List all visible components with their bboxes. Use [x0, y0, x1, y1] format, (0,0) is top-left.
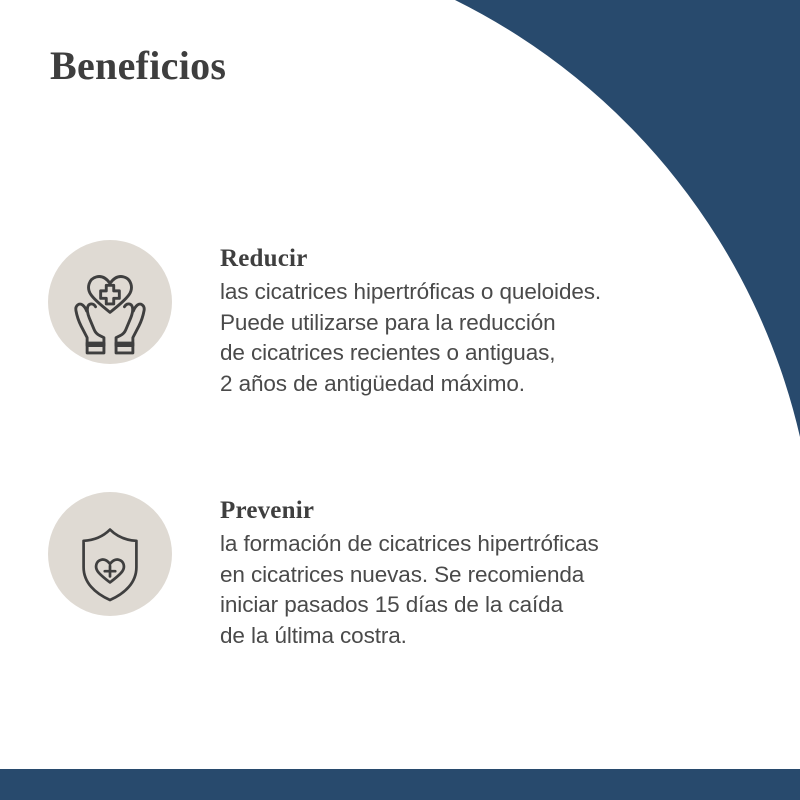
benefit-heading: Prevenir	[220, 496, 599, 526]
hands-holding-heart-with-medical-cross-icon	[54, 254, 166, 366]
benefit-text-block: Prevenir la formación de cicatrices hipe…	[220, 492, 599, 651]
shield-with-heart-and-plus-icon	[62, 516, 158, 612]
benefit-text-block: Reducir las cicatrices hipertróficas o q…	[220, 240, 601, 399]
benefit-item: Prevenir la formación de cicatrices hipe…	[48, 492, 599, 651]
navy-footer-band	[0, 769, 800, 800]
benefit-body: las cicatrices hipertróficas o queloides…	[220, 277, 601, 399]
page-title: Beneficios	[50, 42, 226, 90]
benefit-icon-bubble	[48, 240, 172, 364]
benefit-item: Reducir las cicatrices hipertróficas o q…	[48, 240, 601, 399]
benefit-icon-bubble	[48, 492, 172, 616]
benefit-body: la formación de cicatrices hipertróficas…	[220, 529, 599, 651]
benefits-infographic: Beneficios Reducir	[0, 0, 800, 800]
benefit-heading: Reducir	[220, 244, 601, 274]
